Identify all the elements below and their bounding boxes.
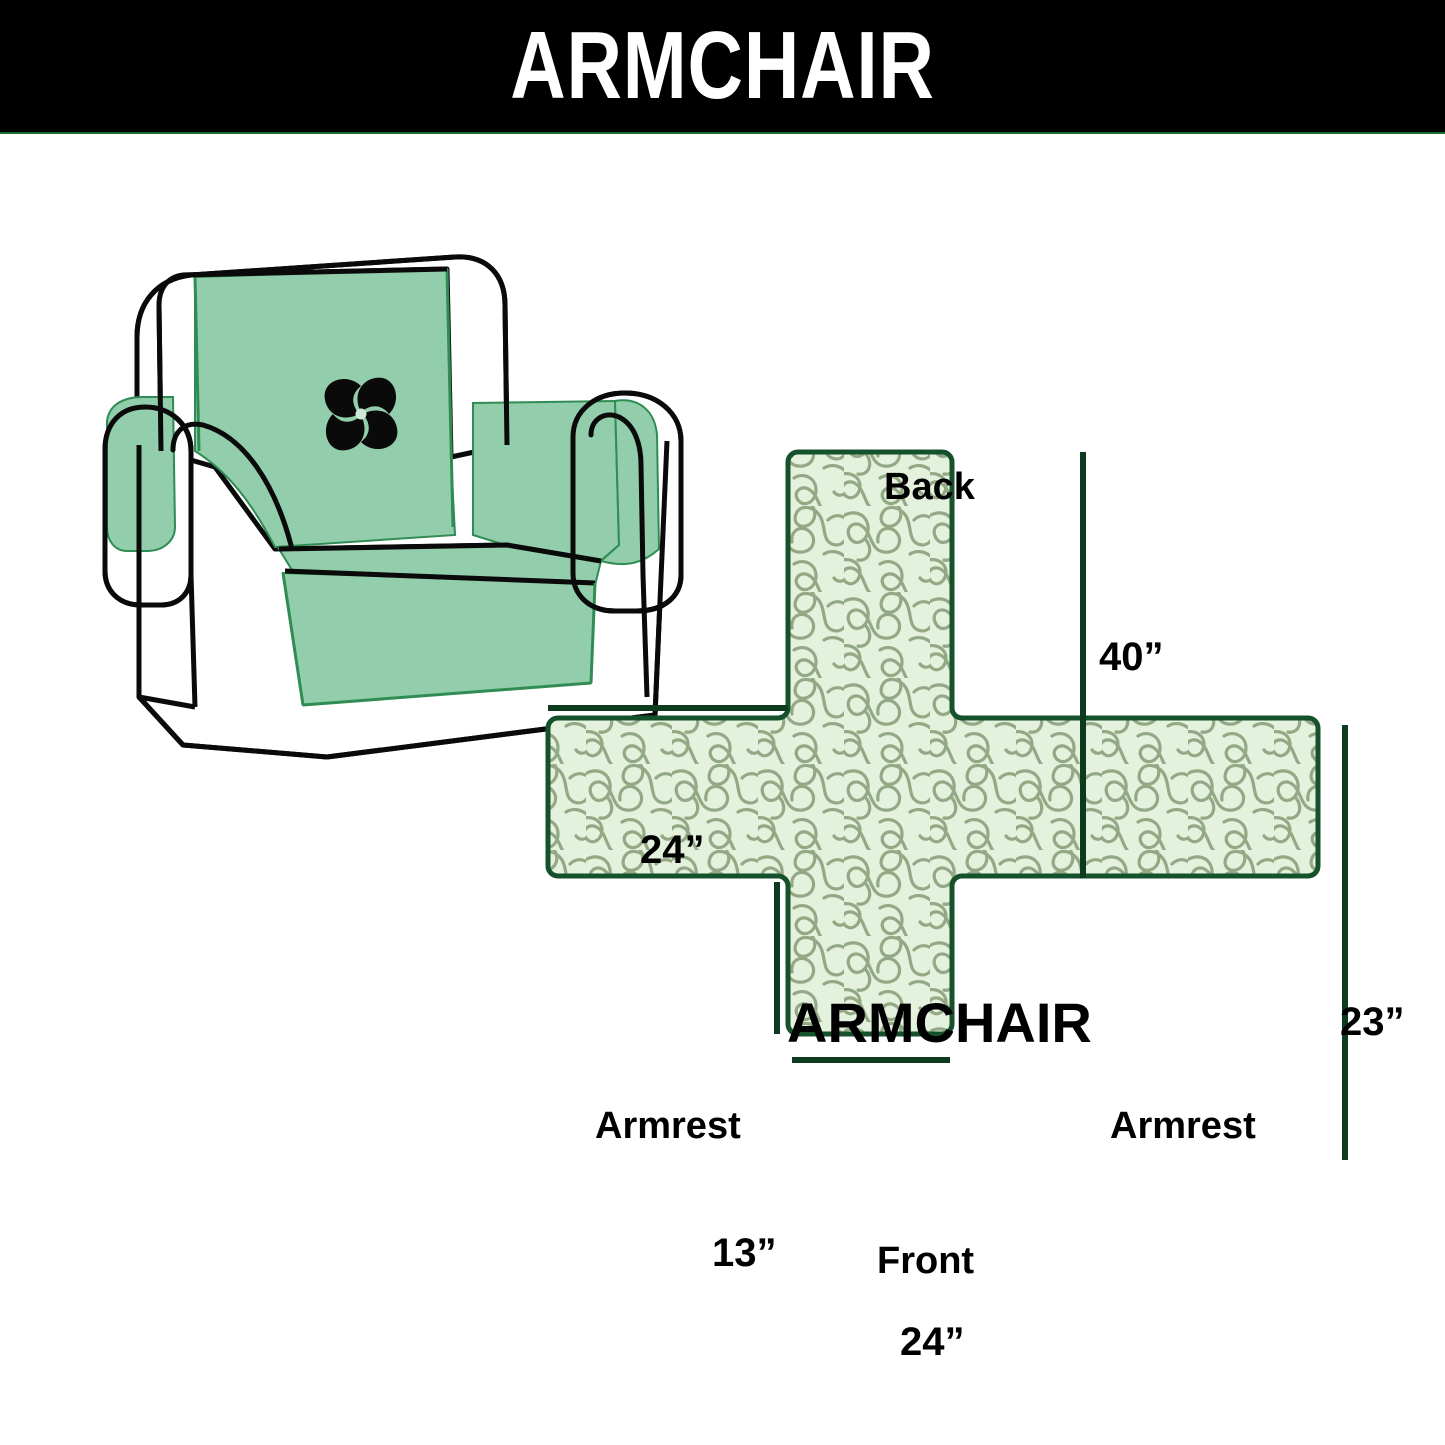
cross-panel-outline: [548, 452, 1318, 1034]
page-title: ARMCHAIR: [145, 0, 1301, 132]
dimension-front-height: 13”: [712, 1231, 777, 1276]
panel-label-front: Front: [877, 1240, 974, 1283]
panel-label-armrest-left: Armrest: [595, 1105, 741, 1148]
dimension-back-width: 24”: [640, 828, 705, 873]
dimension-armrest-height: 23”: [1340, 1000, 1405, 1045]
dimension-back-height: 40”: [1099, 635, 1164, 680]
header-banner: ARMCHAIR: [0, 0, 1445, 134]
panel-label-armrest-right: Armrest: [1110, 1105, 1256, 1148]
fan-icon: [325, 378, 398, 451]
diagram-center-label: ARMCHAIR: [787, 990, 1092, 1055]
panel-label-back: Back: [884, 466, 975, 509]
dimension-front-width: 24”: [900, 1320, 965, 1365]
